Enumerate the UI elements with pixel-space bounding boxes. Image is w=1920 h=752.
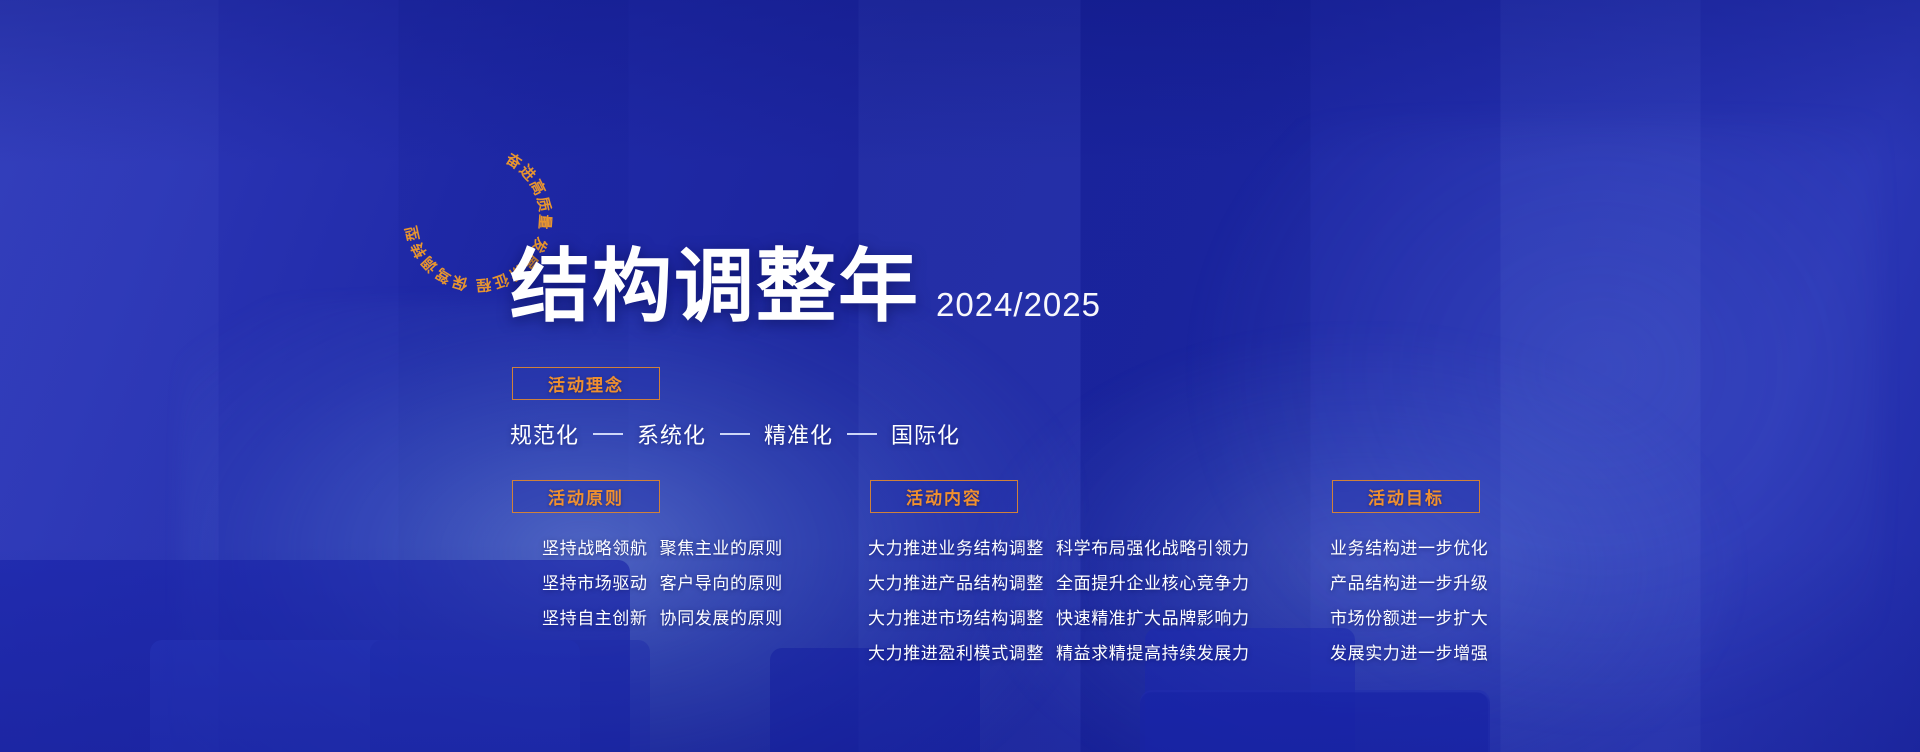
concept-separator-icon-0 — [593, 433, 623, 435]
column-content: 大力推进业务结构调整 科学布局强化战略引领力 大力推进产品结构调整 全面提升企业… — [868, 534, 1250, 664]
list-item: 大力推进市场结构调整 快速精准扩大品牌影响力 — [868, 604, 1250, 629]
column-goals: 业务结构进一步优化 产品结构进一步升级 市场份额进一步扩大 发展实力进一步增强 — [1330, 534, 1488, 664]
page-title: 结构调整年 — [510, 247, 920, 327]
list-item-left: 大力推进盈利模式调整 — [868, 639, 1044, 664]
badge-concept-label: 活动理念 — [548, 371, 624, 396]
badge-principles-label: 活动原则 — [548, 484, 624, 509]
badge-goals[interactable]: 活动目标 — [1332, 480, 1480, 513]
concept-separator-icon-2 — [847, 433, 877, 435]
badge-principles[interactable]: 活动原则 — [512, 480, 660, 513]
banner-root: 奋进高质量 发展新征程 保驾调转型 增动能 结构调整年 2024/2025 活动… — [0, 0, 1920, 752]
list-item-left: 产品结构进一步升级 — [1330, 569, 1488, 594]
list-item-left: 大力推进业务结构调整 — [868, 534, 1044, 559]
column-principles: 坚持战略领航 聚焦主业的原则 坚持市场驱动 客户导向的原则 坚持自主创新 协同发… — [542, 534, 783, 629]
list-item-right: 协同发展的原则 — [660, 604, 783, 629]
title-year: 2024/2025 — [936, 288, 1101, 327]
list-item-left: 业务结构进一步优化 — [1330, 534, 1488, 559]
list-item-right: 聚焦主业的原则 — [660, 534, 783, 559]
badge-concept[interactable]: 活动理念 — [512, 367, 660, 400]
list-item-left: 大力推进产品结构调整 — [868, 569, 1044, 594]
list-item: 坚持市场驱动 客户导向的原则 — [542, 569, 783, 594]
list-item-right: 精益求精提高持续发展力 — [1056, 639, 1250, 664]
concept-items-row: 规范化 系统化 精准化 国际化 — [510, 418, 960, 450]
list-item: 大力推进业务结构调整 科学布局强化战略引领力 — [868, 534, 1250, 559]
list-item: 坚持战略领航 聚焦主业的原则 — [542, 534, 783, 559]
list-item-right: 全面提升企业核心竞争力 — [1056, 569, 1250, 594]
list-item: 大力推进盈利模式调整 精益求精提高持续发展力 — [868, 639, 1250, 664]
list-item: 坚持自主创新 协同发展的原则 — [542, 604, 783, 629]
list-item-right: 快速精准扩大品牌影响力 — [1056, 604, 1250, 629]
list-item-right: 客户导向的原则 — [660, 569, 783, 594]
concept-separator-icon-1 — [720, 433, 750, 435]
concept-item-0: 规范化 — [510, 418, 579, 450]
list-item-left: 发展实力进一步增强 — [1330, 639, 1488, 664]
list-item-left: 坚持自主创新 — [542, 604, 648, 629]
list-item: 产品结构进一步升级 — [1330, 569, 1488, 594]
list-item-right: 科学布局强化战略引领力 — [1056, 534, 1250, 559]
list-item: 业务结构进一步优化 — [1330, 534, 1488, 559]
list-item-left: 市场份额进一步扩大 — [1330, 604, 1488, 629]
title-row: 结构调整年 2024/2025 — [510, 247, 1101, 327]
concept-item-3: 国际化 — [891, 418, 960, 450]
list-item-left: 坚持市场驱动 — [542, 569, 648, 594]
list-item: 发展实力进一步增强 — [1330, 639, 1488, 664]
list-item: 市场份额进一步扩大 — [1330, 604, 1488, 629]
concept-item-1: 系统化 — [637, 418, 706, 450]
list-item-left: 大力推进市场结构调整 — [868, 604, 1044, 629]
list-item: 大力推进产品结构调整 全面提升企业核心竞争力 — [868, 569, 1250, 594]
list-item-left: 坚持战略领航 — [542, 534, 648, 559]
badge-goals-label: 活动目标 — [1368, 484, 1444, 509]
badge-content-label: 活动内容 — [906, 484, 982, 509]
concept-item-2: 精准化 — [764, 418, 833, 450]
badge-content[interactable]: 活动内容 — [870, 480, 1018, 513]
